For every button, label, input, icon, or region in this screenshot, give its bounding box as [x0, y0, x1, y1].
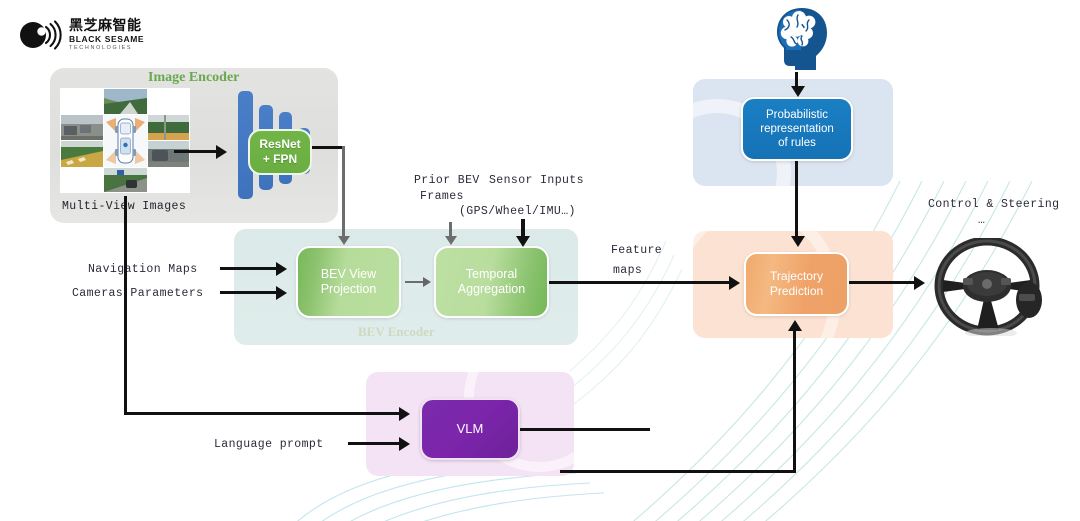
- traj-line-2: Prediction: [770, 284, 823, 299]
- arrow-images-to-resnet-line: [174, 150, 216, 153]
- brand-logo: 黑芝麻智能 BLACK SESAME TECHNOLOGIES: [18, 14, 178, 56]
- bev-proj-line-1: BEV View: [321, 267, 377, 282]
- sesame-waves-logo-icon: [18, 18, 62, 52]
- bev-encoder-title: BEV Encoder: [358, 324, 435, 340]
- arrow-sensor-head: [516, 236, 530, 247]
- sensor-inputs-label-line1: Sensor Inputs: [489, 174, 584, 187]
- traj-line-1: Trajectory: [770, 269, 823, 284]
- arrow-cam-line: [220, 291, 276, 294]
- brand-text: 黑芝麻智能 BLACK SESAME TECHNOLOGIES: [69, 19, 144, 51]
- feature-maps-label-line1: Feature: [611, 244, 662, 257]
- feature-maps-label-line2: maps: [613, 264, 642, 277]
- arrow-nav-line: [220, 267, 276, 270]
- conn-images-to-vlm-v: [124, 196, 127, 414]
- sensor-inputs-label-line2: (GPS/Wheel/IMU…): [459, 205, 576, 218]
- cameras-parameters-label: Cameras Parameters: [72, 287, 203, 300]
- arrow-features-head: [729, 276, 740, 290]
- conn-resnet-out-h: [312, 146, 345, 149]
- conn-images-to-vlm-h: [124, 412, 400, 415]
- conn-vlm-to-traj-h2: [560, 470, 796, 473]
- arrow-head-to-rules-head: [791, 86, 805, 97]
- control-steering-label-line2: …: [978, 214, 987, 227]
- arrow-lang-to-vlm-line: [348, 442, 400, 445]
- conn-resnet-out-head: [338, 236, 350, 245]
- arrow-bevproj-to-temporal-line: [405, 281, 423, 283]
- resnet-line-2: + FPN: [259, 152, 300, 167]
- conn-resnet-out-v: [342, 146, 345, 238]
- temporal-line-1: Temporal: [458, 267, 525, 282]
- trajectory-prediction-node[interactable]: Trajectory Prediction: [744, 252, 849, 316]
- arrow-prior-bev-head: [445, 236, 457, 245]
- conn-vlm-to-traj-v: [793, 330, 796, 472]
- arrow-cam-head: [276, 286, 287, 300]
- brand-name-en: BLACK SESAME: [69, 35, 144, 44]
- arrow-rules-to-traj-line: [795, 161, 798, 239]
- vlm-label: VLM: [457, 421, 484, 437]
- rules-line-1: Probabilistic: [760, 108, 834, 122]
- control-steering-label-line1: Control & Steering: [928, 198, 1059, 211]
- prior-bev-label-line2: Frames: [420, 190, 464, 203]
- bev-proj-line-2: Projection: [321, 282, 377, 297]
- temporal-aggregation-node[interactable]: Temporal Aggregation: [434, 246, 549, 318]
- arrow-traj-to-wheel-head: [914, 276, 925, 290]
- image-encoder-title: Image Encoder: [148, 70, 239, 86]
- conn-vlm-to-traj-h1: [520, 428, 650, 431]
- probabilistic-rules-node[interactable]: Probabilistic representation of rules: [741, 97, 853, 161]
- arrow-images-to-resnet-head: [216, 145, 227, 159]
- brand-subtitle: TECHNOLOGIES: [69, 46, 144, 51]
- conn-images-to-vlm-head: [399, 407, 410, 421]
- arrow-bevproj-to-temporal-head: [423, 277, 431, 287]
- vlm-node[interactable]: VLM: [420, 398, 520, 460]
- rules-line-3: of rules: [760, 136, 834, 150]
- bev-view-projection-node[interactable]: BEV View Projection: [296, 246, 401, 318]
- prior-bev-label-line1: Prior BEV: [414, 174, 480, 187]
- resnet-line-1: ResNet: [259, 137, 300, 152]
- arrow-rules-to-traj-head: [791, 236, 805, 247]
- arrow-lang-to-vlm-head: [399, 437, 410, 451]
- arrow-traj-to-wheel-line: [849, 281, 915, 284]
- temporal-line-2: Aggregation: [458, 282, 525, 297]
- navigation-maps-label: Navigation Maps: [88, 263, 198, 276]
- head-brain-icon: [771, 6, 833, 72]
- multi-view-camera-grid: [60, 88, 190, 193]
- conn-vlm-to-traj-head: [788, 320, 802, 331]
- arrow-nav-head: [276, 262, 287, 276]
- resnet-fpn-node[interactable]: ResNet + FPN: [248, 129, 312, 175]
- rules-line-2: representation: [760, 122, 834, 136]
- language-prompt-label: Language prompt: [214, 438, 324, 451]
- diagram-canvas: 黑芝麻智能 BLACK SESAME TECHNOLOGIES Image En…: [0, 0, 1080, 521]
- brand-name-cn: 黑芝麻智能: [69, 19, 144, 33]
- steering-wheel-icon: [929, 238, 1049, 336]
- arrow-features-line: [549, 281, 730, 284]
